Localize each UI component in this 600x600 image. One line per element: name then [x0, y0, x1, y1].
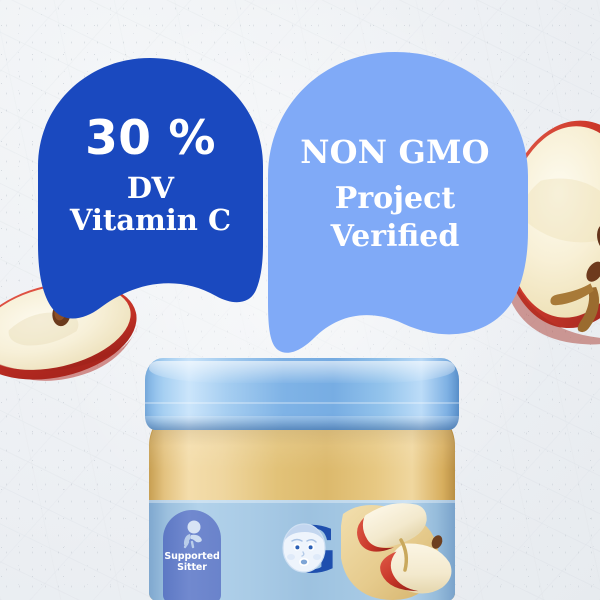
badge-non-gmo[interactable]: NON GMO Project Verified [262, 52, 528, 355]
seated-baby-icon [177, 519, 207, 549]
jar-glass-body: Supported Sitter G [149, 412, 455, 600]
lid-band [145, 402, 459, 404]
lid-highlight [149, 361, 455, 383]
badge-vitamin-c[interactable]: 30 % DV Vitamin C [38, 58, 263, 323]
product-ad-scene: 30 % DV Vitamin C NON GMO Project Verifi… [0, 0, 600, 600]
jar-lid [145, 358, 459, 430]
badge-sitter-line1: Supported [163, 551, 221, 562]
label-apple-photo [341, 500, 455, 600]
badge-sitter-line2: Sitter [163, 562, 221, 573]
lid-rim [145, 416, 459, 430]
product-jar: Supported Sitter G [137, 358, 467, 600]
badge-supported-sitter: Supported Sitter [163, 510, 221, 600]
jar-label: Supported Sitter G [149, 500, 455, 600]
